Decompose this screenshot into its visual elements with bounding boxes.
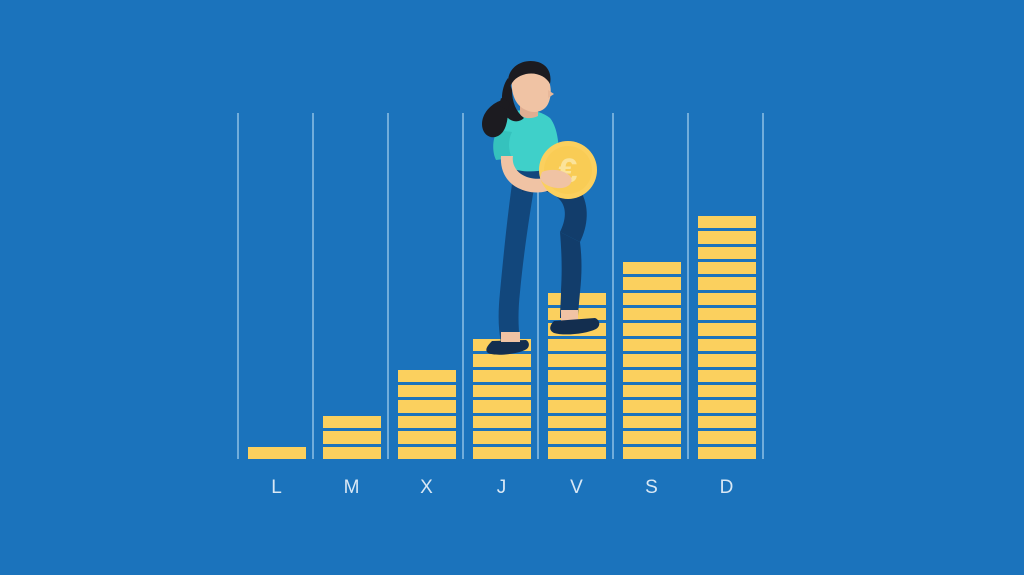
coin-slab [398,370,456,382]
tick-label-J: J [473,477,531,499]
tick-label-X: X [398,477,456,499]
coin-slab [623,277,681,289]
gridline-7 [687,113,689,459]
coin-slab [698,323,756,335]
tick-label-D: D [698,477,756,499]
coin-slab [698,416,756,428]
coin-slab [698,339,756,351]
bar-X[interactable] [398,370,456,459]
tick-label-V: V [548,477,606,499]
coin-bar-chart: L M X J V S D [0,0,1024,575]
coin-slab [698,447,756,459]
coin-slab [623,308,681,320]
coin-slab [398,447,456,459]
coin-slab [473,416,531,428]
coin-slab [548,370,606,382]
gridline-2 [312,113,314,459]
coin-slab [473,431,531,443]
coin-slab [698,247,756,259]
coin-slab [548,323,606,335]
coin-slab [698,216,756,228]
coin-slab [623,339,681,351]
gridline-4 [462,113,464,459]
coin-slab [548,354,606,366]
coin-slab [623,323,681,335]
gridline-3 [387,113,389,459]
coin-slab [473,370,531,382]
coin-slab [548,385,606,397]
coin-slab [548,339,606,351]
coin-slab [548,308,606,320]
coin-slab [623,416,681,428]
coin-slab [473,400,531,412]
coin-slab [698,308,756,320]
bar-S[interactable] [623,262,681,459]
coin-slab [623,370,681,382]
gridline-5 [537,113,539,459]
bar-L[interactable] [248,447,306,459]
coin-slab [623,447,681,459]
coin-slab [323,416,381,428]
coin-slab [473,447,531,459]
coin-slab [248,447,306,459]
bar-J[interactable] [473,339,531,459]
tick-label-S: S [623,477,681,499]
coin-slab [398,400,456,412]
coin-slab [623,262,681,274]
tick-label-M: M [323,477,381,499]
coin-slab [698,262,756,274]
coin-slab [698,293,756,305]
coin-slab [398,431,456,443]
bar-D[interactable] [698,216,756,459]
coin-slab [398,416,456,428]
coin-slab [698,400,756,412]
coin-slab [698,431,756,443]
coin-slab [323,431,381,443]
coin-slab [548,400,606,412]
bar-V[interactable] [548,293,606,459]
coin-slab [623,385,681,397]
coin-slab [698,231,756,243]
illustration-canvas: L M X J V S D [0,0,1024,575]
gridline-8 [762,113,764,459]
tick-label-L: L [248,477,306,499]
coin-slab [398,385,456,397]
coin-slab [623,431,681,443]
coin-slab [623,400,681,412]
coin-slab [473,339,531,351]
coin-slab [548,416,606,428]
coin-slab [698,277,756,289]
coin-slab [548,431,606,443]
coin-slab [473,385,531,397]
gridline-1 [237,113,239,459]
coin-slab [698,385,756,397]
coin-slab [623,354,681,366]
coin-slab [548,293,606,305]
coin-slab [698,354,756,366]
coin-slab [548,447,606,459]
coin-slab [698,370,756,382]
gridline-6 [612,113,614,459]
coin-slab [623,293,681,305]
bar-M[interactable] [323,416,381,459]
coin-slab [473,354,531,366]
coin-slab [323,447,381,459]
